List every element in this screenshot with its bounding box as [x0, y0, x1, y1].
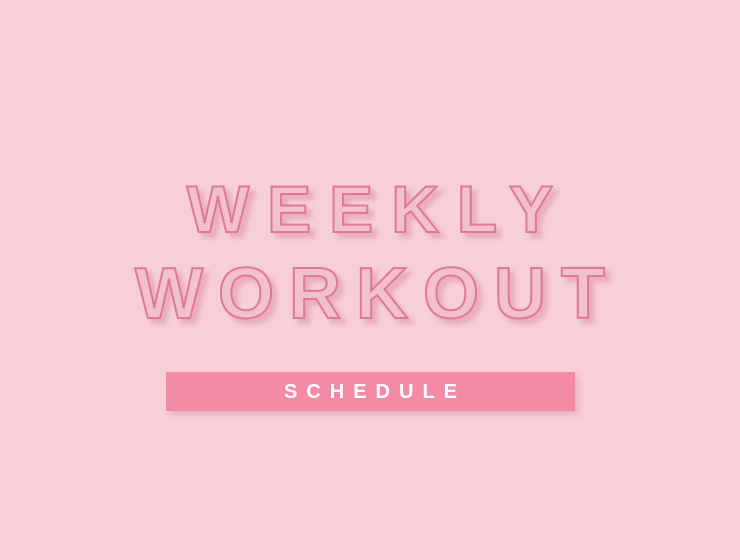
headline-workout-stroke: WORKOUT [135, 254, 620, 334]
poster-canvas: WEEKLY WEEKLY WEEKLY WORKOUT WORKOUT WOR… [0, 0, 740, 560]
schedule-banner-label: SCHEDULE [275, 382, 466, 402]
headline-line-workout: WORKOUT WORKOUT WORKOUT [0, 258, 740, 336]
headline-line-weekly: WEEKLY WEEKLY WEEKLY [0, 176, 740, 246]
headline-group: WEEKLY WEEKLY WEEKLY WORKOUT WORKOUT WOR… [0, 176, 740, 336]
headline-weekly-stroke: WEEKLY [187, 172, 571, 246]
schedule-banner: SCHEDULE [166, 372, 575, 411]
